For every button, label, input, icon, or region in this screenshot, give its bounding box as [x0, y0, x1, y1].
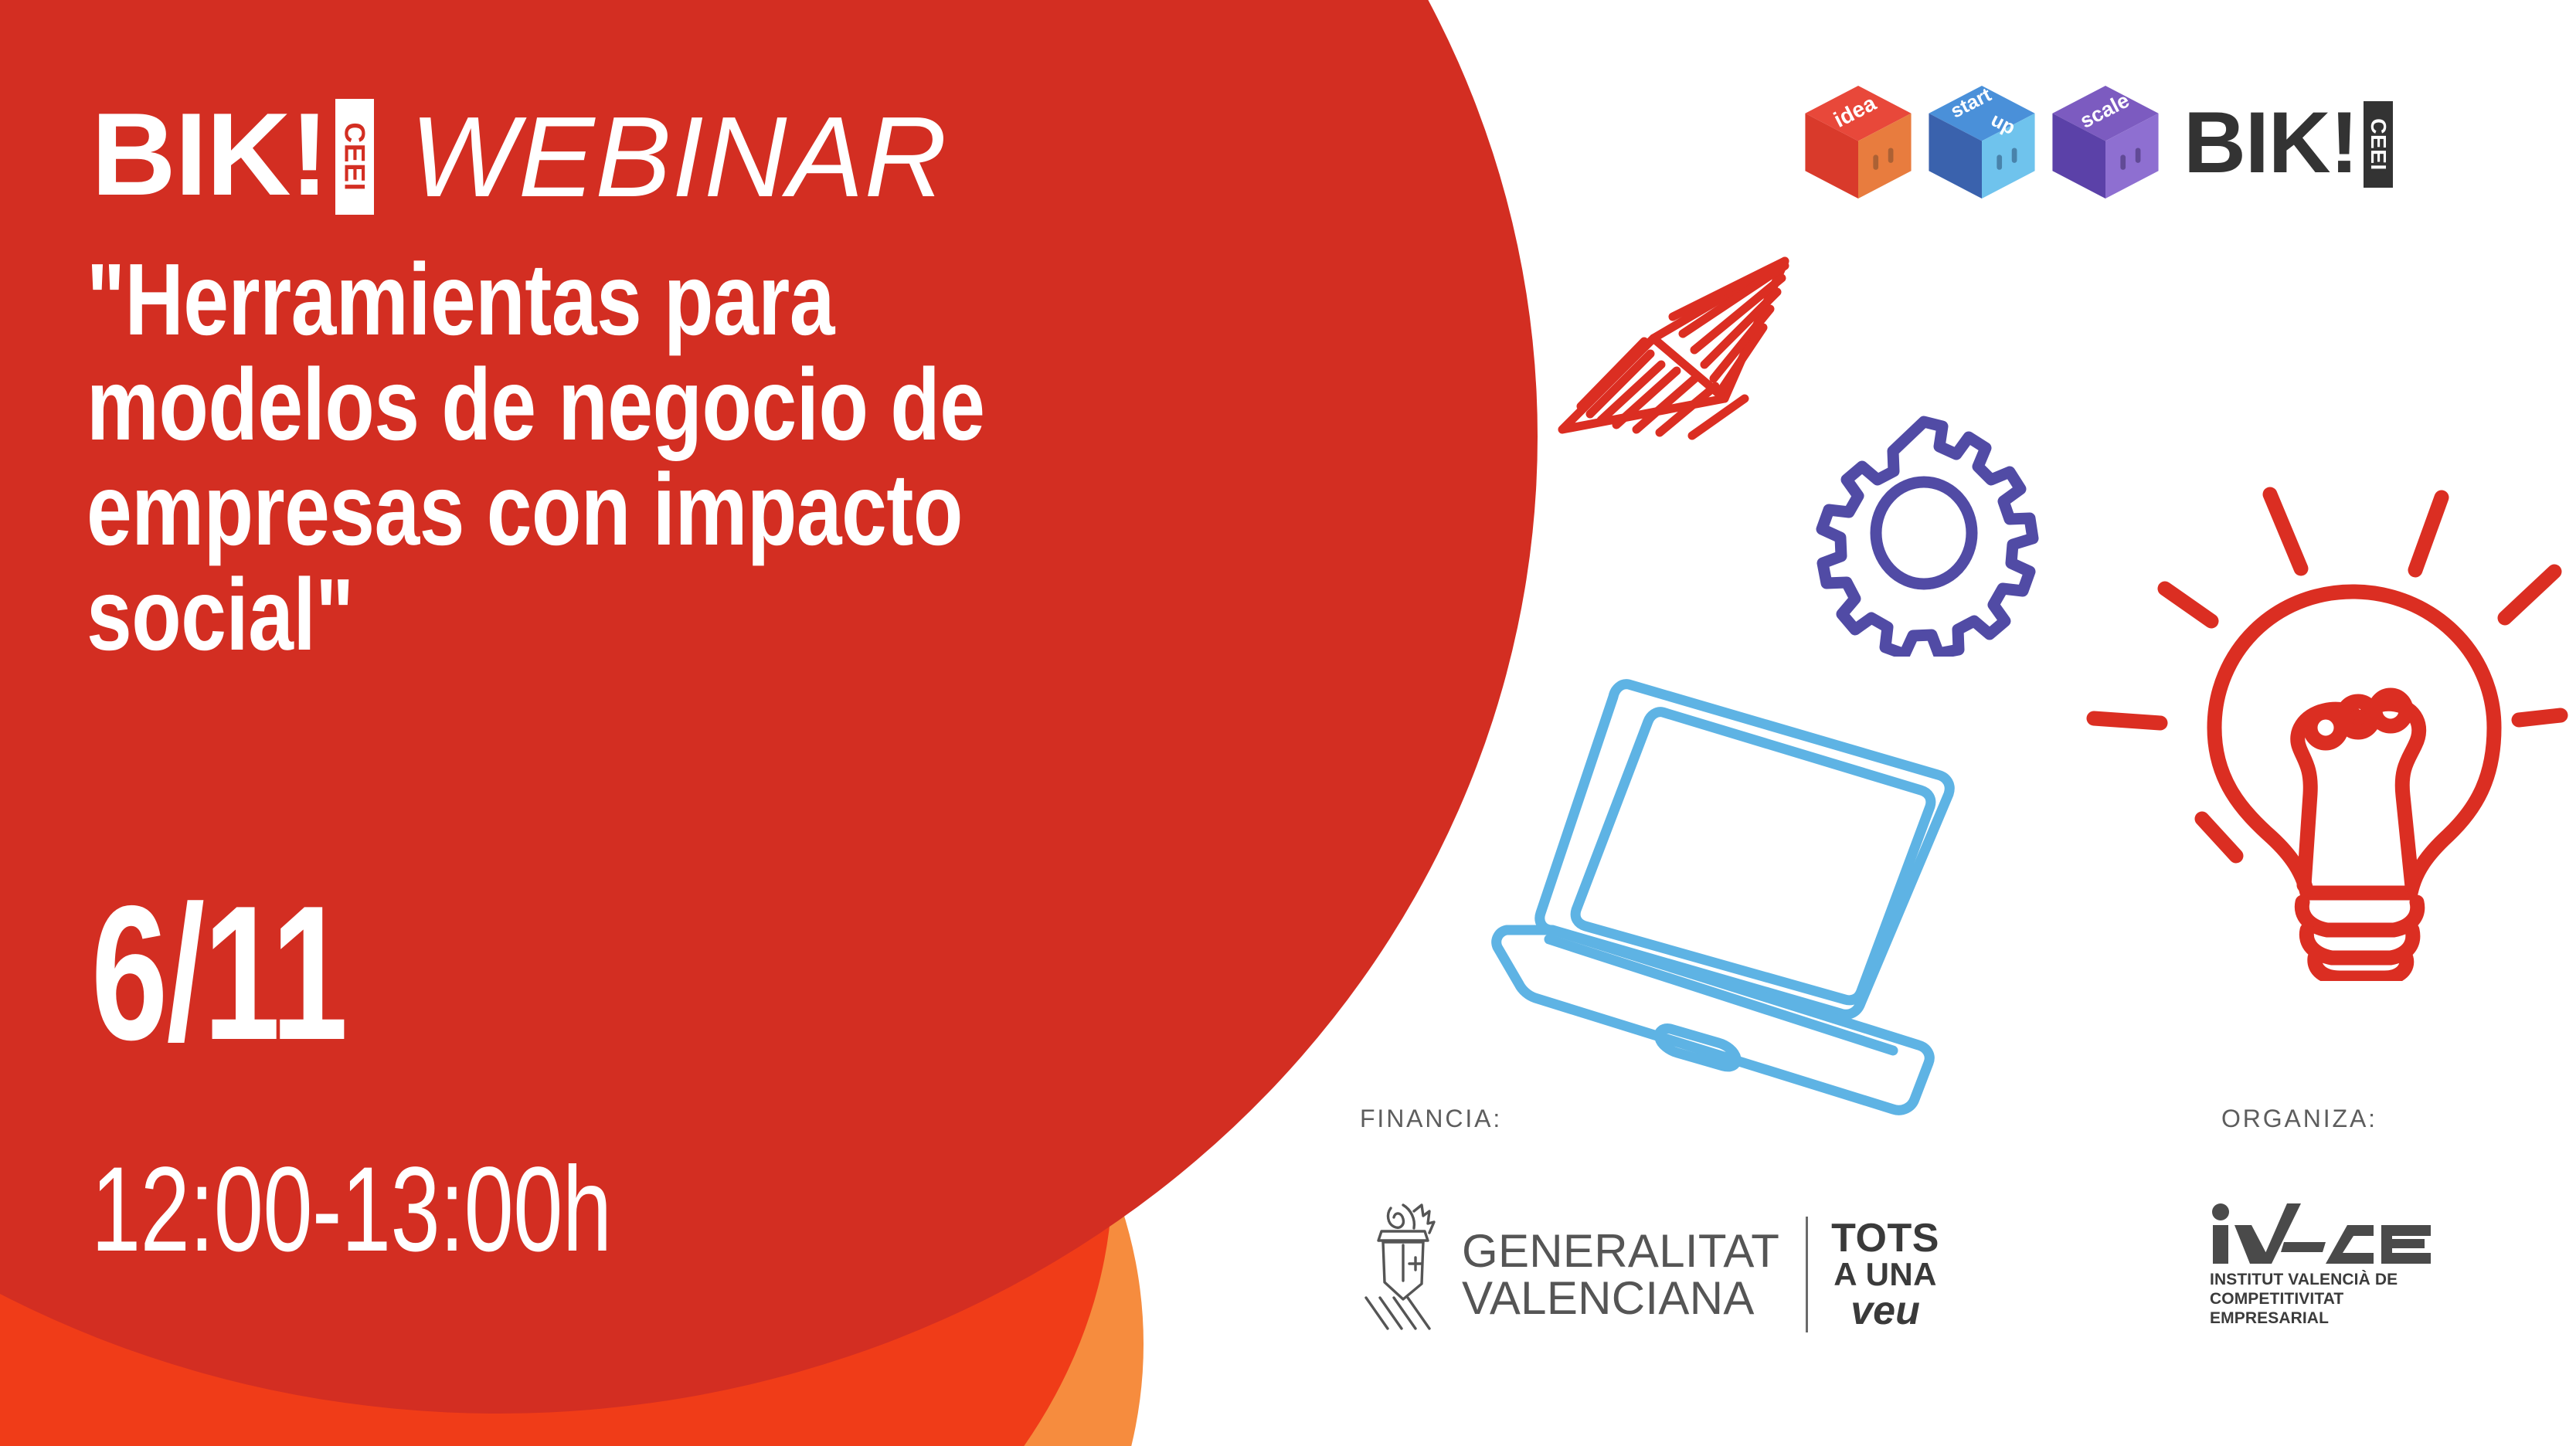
- cube-startup-icon: start up: [1924, 83, 2040, 203]
- webinar-poster: BIK! CEEI WEBINAR "Herramientas para mod…: [0, 0, 2576, 1446]
- bik-logo-white: BIK! CEEI: [91, 96, 374, 215]
- generalitat-wordmark: GENERALITAT VALENCIANA: [1462, 1227, 1779, 1322]
- ceei-exclamation-mark-dark: CEEI: [2364, 101, 2393, 188]
- ivace-wordmark-icon: [2210, 1203, 2434, 1264]
- financia-label: FINANCIA:: [1360, 1105, 1502, 1133]
- footer-divider: [1806, 1217, 1808, 1332]
- cube-scale-icon: scale: [2048, 83, 2163, 203]
- page-title: "Herramientas para modelos de negocio de…: [87, 247, 1082, 667]
- cube-idea-icon: idea: [1800, 83, 1916, 203]
- generalitat-valenciana-logo: GENERALITAT VALENCIANA TOTS A UNA veu: [1360, 1197, 1939, 1352]
- event-date: 6/11: [91, 881, 597, 1064]
- generalitat-line2: VALENCIANA: [1462, 1275, 1779, 1322]
- footer: FINANCIA: ORGANIZA: GENERALITAT VALENCIA…: [1344, 1105, 2550, 1429]
- gear-icon: [1793, 409, 2055, 657]
- generalitat-crest-icon: [1360, 1197, 1445, 1352]
- ceei-vertical-text: CEEI: [341, 122, 369, 191]
- event-time: 12:00-13:00h: [91, 1149, 611, 1270]
- bik-wordmark: BIK!: [91, 96, 328, 213]
- tots-a-una-veu-tagline: TOTS A UNA veu: [1831, 1218, 1939, 1331]
- bik-wordmark-dark: BIK!: [2183, 100, 2358, 186]
- ivace-logo: INSTITUT VALENCIÀ DE COMPETITIVITAT EMPR…: [2210, 1203, 2434, 1328]
- brand-headline-row: BIK! CEEI WEBINAR: [91, 68, 947, 215]
- tagline-line3: veu: [1831, 1291, 1939, 1331]
- left-content-column: BIK! CEEI WEBINAR "Herramientas para mod…: [0, 0, 1391, 1446]
- tagline-line2: A UNA: [1831, 1258, 1939, 1291]
- ivace-subtitle-line1: INSTITUT VALENCIÀ DE: [2210, 1271, 2434, 1290]
- paper-plane-icon: [1553, 247, 1823, 456]
- generalitat-line1: GENERALITAT: [1462, 1227, 1779, 1275]
- ivace-subtitle: INSTITUT VALENCIÀ DE COMPETITIVITAT EMPR…: [2210, 1271, 2434, 1328]
- laptop-icon: [1491, 664, 1970, 1128]
- ceei-exclamation-mark: CEEI: [335, 99, 374, 215]
- webinar-word: WEBINAR: [410, 100, 947, 215]
- ivace-subtitle-line2: COMPETITIVITAT EMPRESARIAL: [2210, 1290, 2434, 1329]
- tagline-line1: TOTS: [1831, 1218, 1939, 1258]
- stage-cubes-group: idea start up scale: [1800, 83, 2163, 203]
- bik-logo-dark: BIK! CEEI: [2183, 100, 2393, 188]
- lightbulb-icon: [2078, 456, 2573, 981]
- ceei-vertical-text-dark: CEEI: [2367, 118, 2389, 171]
- organiza-label: ORGANIZA:: [2221, 1105, 2377, 1133]
- event-date-block: 6/11 12:00-13:00h: [91, 881, 794, 1270]
- top-right-brand-cluster: idea start up scale: [1800, 83, 2393, 203]
